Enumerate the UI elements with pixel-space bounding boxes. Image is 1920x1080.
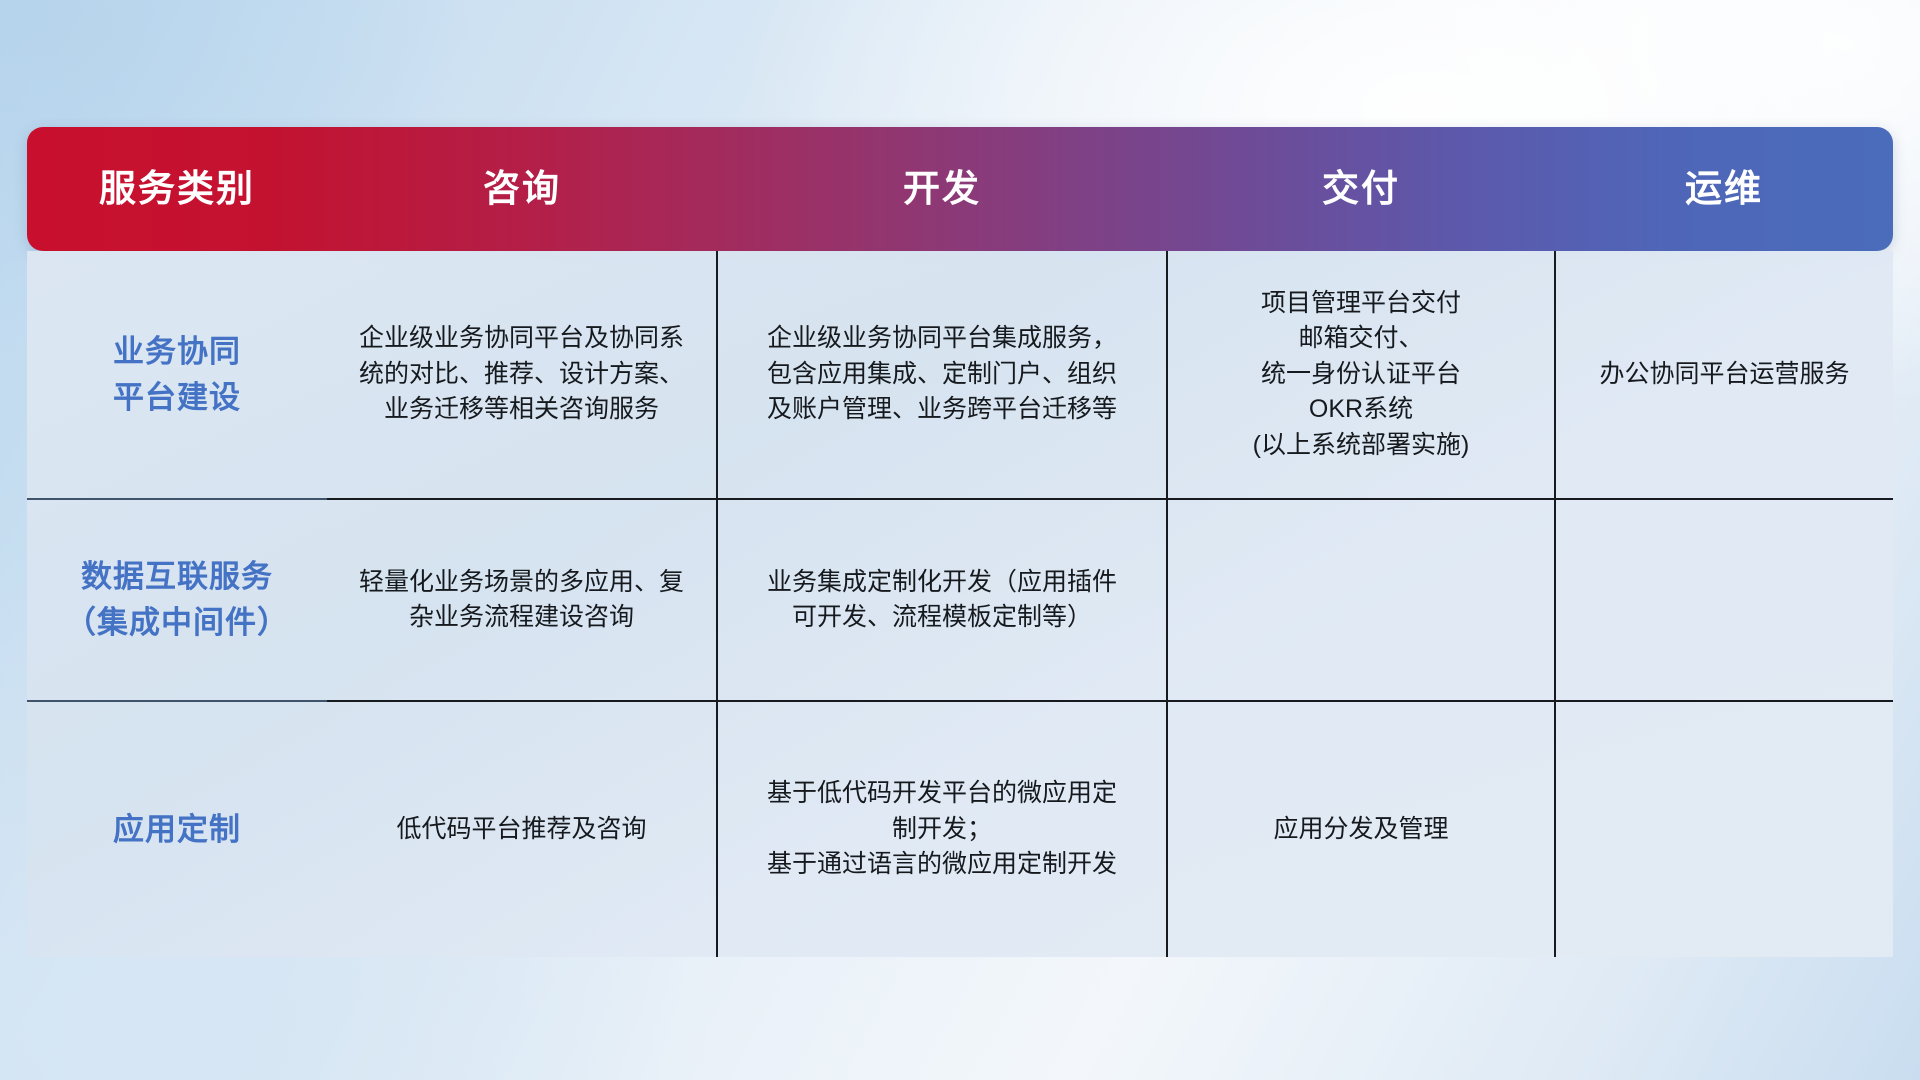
cell-consulting: 低代码平台推荐及咨询 <box>327 701 717 957</box>
column-header-service-category: 服务类别 <box>27 127 327 251</box>
page-canvas: 服务类别 咨询 开发 交付 运维 <box>0 0 1920 1080</box>
cell-category: 业务协同 平台建设 <box>27 251 327 499</box>
service-matrix-table-wrapper: 服务类别 咨询 开发 交付 运维 <box>27 127 1893 957</box>
column-header-consulting: 咨询 <box>327 127 717 251</box>
table-body: 业务协同 平台建设 企业级业务协同平台及协同系 统的对比、推荐、设计方案、 业务… <box>27 251 1893 957</box>
cell-text: 企业级业务协同平台及协同系 统的对比、推荐、设计方案、 业务迁移等相关咨询服务 <box>327 321 716 428</box>
cell-text: 办公协同平台运营服务 <box>1556 357 1893 393</box>
column-header-label: 咨询 <box>327 127 717 251</box>
cell-delivery: 项目管理平台交付 邮箱交付、 统一身份认证平台 OKR系统 (以上系统部署实施) <box>1167 251 1555 499</box>
cell-consulting: 企业级业务协同平台及协同系 统的对比、推荐、设计方案、 业务迁移等相关咨询服务 <box>327 251 717 499</box>
cell-development: 企业级业务协同平台集成服务， 包含应用集成、定制门户、组织 及账户管理、业务跨平… <box>717 251 1167 499</box>
cell-operations <box>1555 701 1893 957</box>
table-header-row: 服务类别 咨询 开发 交付 运维 <box>27 127 1893 251</box>
column-header-delivery: 交付 <box>1167 127 1555 251</box>
column-header-operations: 运维 <box>1555 127 1893 251</box>
cell-category: 数据互联服务 （集成中间件） <box>27 499 327 701</box>
cell-text: 低代码平台推荐及咨询 <box>327 812 716 848</box>
table-row: 业务协同 平台建设 企业级业务协同平台及协同系 统的对比、推荐、设计方案、 业务… <box>27 251 1893 499</box>
cell-text: 项目管理平台交付 邮箱交付、 统一身份认证平台 OKR系统 (以上系统部署实施) <box>1168 286 1554 464</box>
cell-development: 基于低代码开发平台的微应用定 制开发； 基于通过语言的微应用定制开发 <box>717 701 1167 957</box>
category-label: 数据互联服务 （集成中间件） <box>27 554 327 646</box>
column-header-label: 服务类别 <box>27 127 327 251</box>
category-label: 业务协同 平台建设 <box>27 329 327 421</box>
cell-text: 应用分发及管理 <box>1168 812 1554 848</box>
category-label: 应用定制 <box>27 807 327 853</box>
cell-development: 业务集成定制化开发（应用插件 可开发、流程模板定制等） <box>717 499 1167 701</box>
cell-consulting: 轻量化业务场景的多应用、复 杂业务流程建设咨询 <box>327 499 717 701</box>
cell-text: 基于低代码开发平台的微应用定 制开发； 基于通过语言的微应用定制开发 <box>718 776 1166 883</box>
cell-text: 企业级业务协同平台集成服务， 包含应用集成、定制门户、组织 及账户管理、业务跨平… <box>718 321 1166 428</box>
column-header-development: 开发 <box>717 127 1167 251</box>
column-header-label: 运维 <box>1555 127 1893 251</box>
cell-operations: 办公协同平台运营服务 <box>1555 251 1893 499</box>
cell-category: 应用定制 <box>27 701 327 957</box>
cell-text: 业务集成定制化开发（应用插件 可开发、流程模板定制等） <box>718 565 1166 636</box>
cell-delivery <box>1167 499 1555 701</box>
column-header-label: 开发 <box>717 127 1167 251</box>
table-row: 应用定制 低代码平台推荐及咨询 基于低代码开发平台的微应用定 制开发； 基于通过… <box>27 701 1893 957</box>
cell-delivery: 应用分发及管理 <box>1167 701 1555 957</box>
cell-text: 轻量化业务场景的多应用、复 杂业务流程建设咨询 <box>327 565 716 636</box>
table-row: 数据互联服务 （集成中间件） 轻量化业务场景的多应用、复 杂业务流程建设咨询 业… <box>27 499 1893 701</box>
table-header: 服务类别 咨询 开发 交付 运维 <box>27 127 1893 251</box>
column-header-label: 交付 <box>1167 127 1555 251</box>
service-matrix-table: 服务类别 咨询 开发 交付 运维 <box>27 127 1893 957</box>
cell-operations <box>1555 499 1893 701</box>
